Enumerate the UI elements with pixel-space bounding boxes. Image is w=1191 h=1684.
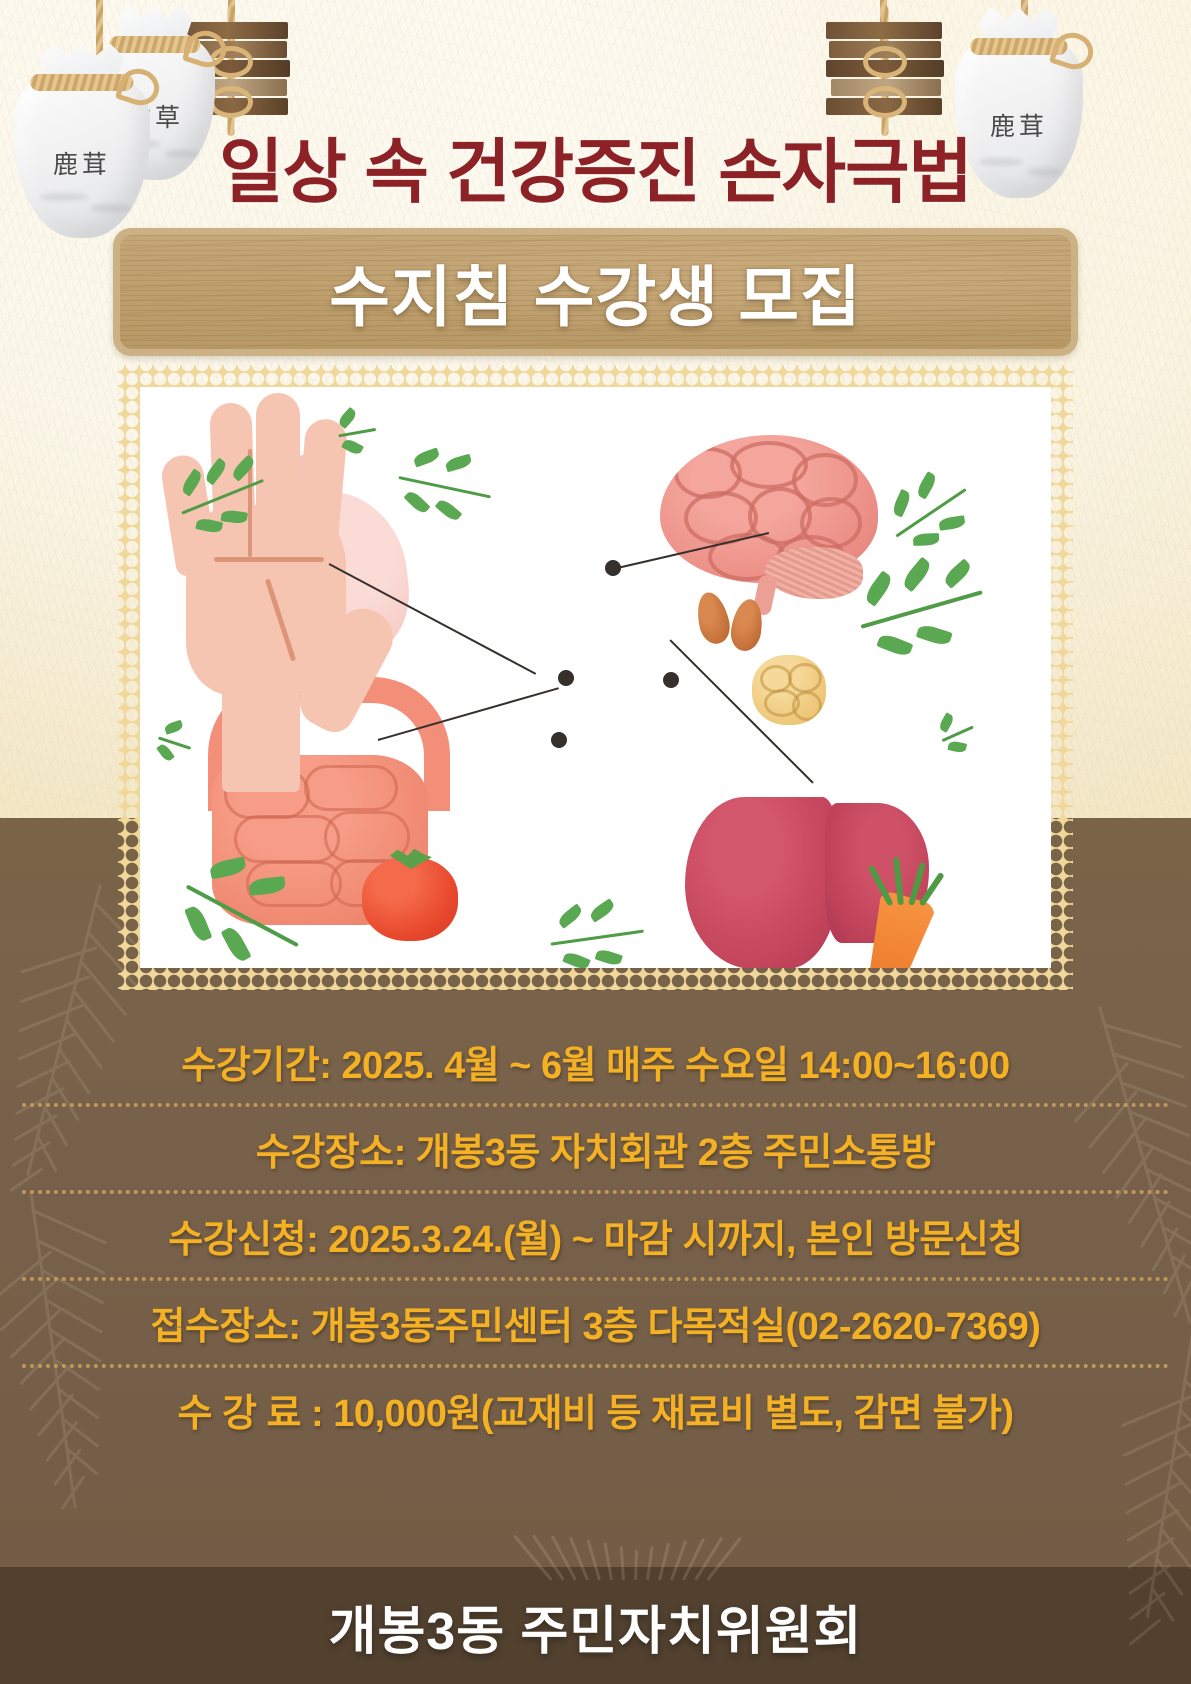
info-row-period: 수강기간: 2025. 4월 ~ 6월 매주 수요일 14:00~16:00 [0,1020,1191,1103]
sack-tie-icon [970,38,1067,55]
acupoint-stomach [558,670,574,686]
tomato-illustration [362,847,458,941]
footer-organization: 개봉3동 주민자치위원회 [0,1589,1191,1664]
page-title: 일상 속 건강증진 손자극법 [0,116,1191,217]
acupoint-liver [663,672,679,688]
wooden-sign-banner: 수지침 수강생 모집 [113,228,1078,356]
herb-sprig-icon [546,901,649,968]
info-divider [22,1190,1169,1194]
herb-sprig-icon [336,412,381,450]
info-row-reception: 접수장소: 개봉3동주민센터 3층 다목적실(02-2620-7369) [0,1281,1191,1364]
sack-tie-icon [109,36,200,53]
bundle-knot-icon [863,46,907,78]
bundle-knot-icon [209,86,253,118]
herb-sprig-icon [880,464,983,559]
wooden-sign-face: 수지침 수강생 모집 [120,235,1071,349]
poster-root: 甘草 鹿茸 鹿茸 일상 속 건강증진 손자극법 수지침 수강생 모집 [0,0,1191,1684]
sack-tie-icon [30,74,133,91]
info-divider [22,1364,1169,1368]
info-row-apply: 수강신청: 2025.3.24.(월) ~ 마감 시까지, 본인 방문신청 [0,1194,1191,1277]
twig-bundle-right [826,20,944,120]
acupoint-brain [605,560,621,576]
illustration-canvas [140,387,1051,968]
info-divider [22,1277,1169,1281]
herb-sprig-icon [935,711,980,753]
info-list: 수강기간: 2025. 4월 ~ 6월 매주 수요일 14:00~16:00 수… [0,1020,1191,1451]
info-divider [22,1103,1169,1107]
grass-tuft-watermark [520,1520,740,1580]
walnut-illustration [752,655,826,725]
wooden-sign-title: 수지침 수강생 모집 [329,244,861,340]
acupoint-intestines [551,732,567,748]
info-row-fee: 수 강 료 : 10,000원(교재비 등 재료비 별도, 감면 불가) [0,1368,1191,1451]
carrot-illustration [840,857,980,968]
bundle-knot-icon [863,86,907,118]
info-row-place: 수강장소: 개봉3동 자치회관 2층 주민소통방 [0,1107,1191,1190]
